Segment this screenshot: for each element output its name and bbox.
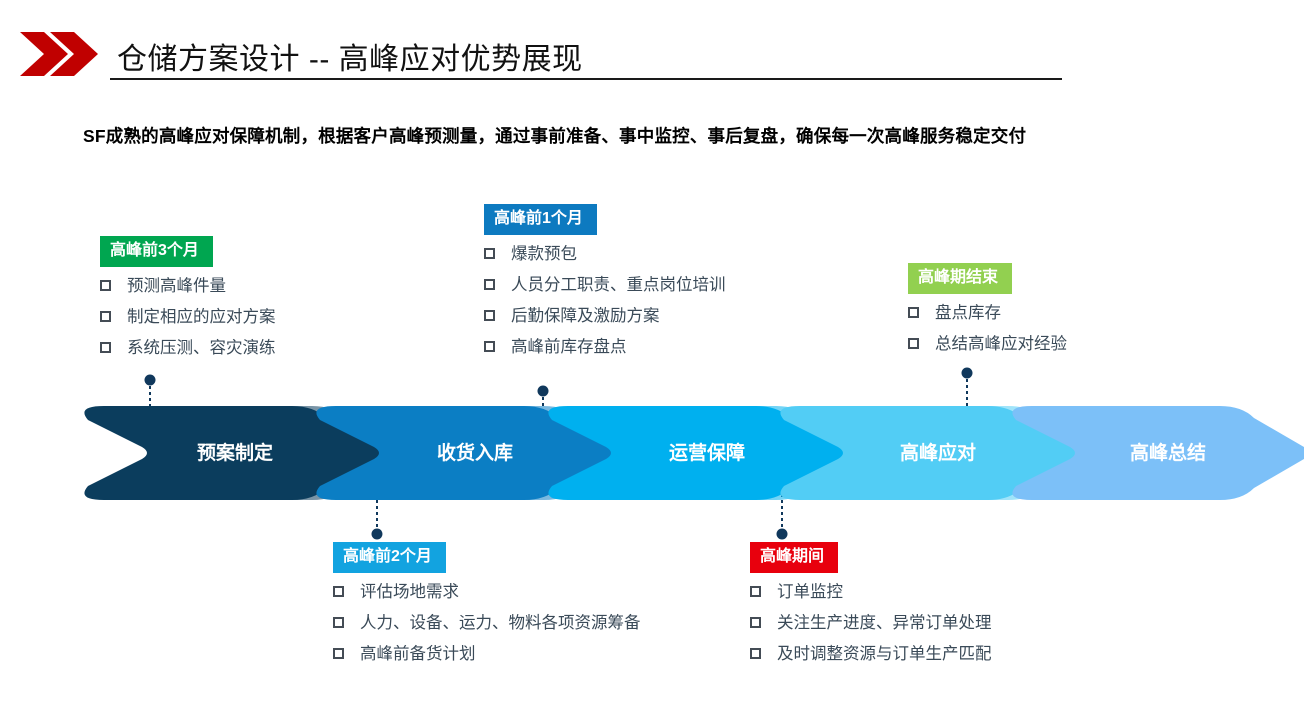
chevron-label-4: 高峰总结 [1098, 438, 1238, 465]
list-item-label: 系统压测、容灾演练 [127, 338, 276, 358]
subtitle-text: SF成熟的高峰应对保障机制，根据客户高峰预测量，通过事前准备、事中监控、事后复盘… [83, 122, 1248, 151]
list-item: 爆款预包 [484, 244, 726, 264]
list-item-label: 盘点库存 [935, 303, 1001, 323]
title-underline [110, 78, 1062, 80]
chevron-label-3: 高峰应对 [868, 438, 1008, 465]
badge-peak-period: 高峰期间 [750, 542, 838, 573]
page-title: 仓储方案设计 -- 高峰应对优势展现 [117, 34, 583, 78]
list-item-label: 人员分工职责、重点岗位培训 [511, 275, 726, 295]
checkbox-icon [100, 280, 111, 291]
badge-peak-period-end: 高峰期结束 [908, 263, 1012, 294]
list-item-label: 爆款预包 [511, 244, 577, 264]
list-item: 评估场地需求 [333, 582, 641, 602]
list-item-label: 评估场地需求 [360, 582, 459, 602]
list-item: 高峰前备货计划 [333, 644, 641, 664]
checkbox-icon [908, 338, 919, 349]
item-list: 爆款预包 人员分工职责、重点岗位培训 后勤保障及激励方案 高峰前库存盘点 [484, 244, 726, 357]
list-item: 及时调整资源与订单生产匹配 [750, 644, 992, 664]
list-item: 订单监控 [750, 582, 992, 602]
item-list: 盘点库存 总结高峰应对经验 [908, 303, 1067, 354]
item-list: 评估场地需求 人力、设备、运力、物料各项资源筹备 高峰前备货计划 [333, 582, 641, 664]
badge-peak-3-months-before: 高峰前3个月 [100, 236, 213, 267]
list-item: 系统压测、容灾演练 [100, 338, 276, 358]
list-item-label: 及时调整资源与订单生产匹配 [777, 644, 992, 664]
list-item: 高峰前库存盘点 [484, 337, 726, 357]
checkbox-icon [100, 342, 111, 353]
checkbox-icon [750, 586, 761, 597]
list-item: 预测高峰件量 [100, 276, 276, 296]
checkbox-icon [100, 311, 111, 322]
checkbox-icon [750, 648, 761, 659]
list-item-label: 预测高峰件量 [127, 276, 226, 296]
list-item: 人员分工职责、重点岗位培训 [484, 275, 726, 295]
process-arrow-band: 预案制定 收货入库 运营保障 高峰应对 高峰总结 [0, 398, 1304, 508]
checkbox-icon [333, 586, 344, 597]
chevron-label-1: 收货入库 [405, 438, 545, 465]
block-peak-period-end: 高峰期结束 盘点库存 总结高峰应对经验 [908, 263, 1067, 365]
chevron-label-0: 预案制定 [165, 438, 305, 465]
list-item-label: 制定相应的应对方案 [127, 307, 276, 327]
checkbox-icon [484, 279, 495, 290]
list-item: 制定相应的应对方案 [100, 307, 276, 327]
checkbox-icon [333, 648, 344, 659]
checkbox-icon [333, 617, 344, 628]
chevron-label-2: 运营保障 [637, 438, 777, 465]
checkbox-icon [908, 307, 919, 318]
page-header: 仓储方案设计 -- 高峰应对优势展现 [0, 0, 1304, 100]
checkbox-icon [484, 248, 495, 259]
checkbox-icon [750, 617, 761, 628]
list-item-label: 关注生产进度、异常订单处理 [777, 613, 992, 633]
list-item: 人力、设备、运力、物料各项资源筹备 [333, 613, 641, 633]
list-item-label: 订单监控 [777, 582, 843, 602]
list-item-label: 后勤保障及激励方案 [511, 306, 660, 326]
block-peak-2-months-before: 高峰前2个月 评估场地需求 人力、设备、运力、物料各项资源筹备 高峰前备货计划 [333, 542, 641, 675]
list-item-label: 高峰前备货计划 [360, 644, 476, 664]
checkbox-icon [484, 310, 495, 321]
block-peak-1-month-before: 高峰前1个月 爆款预包 人员分工职责、重点岗位培训 后勤保障及激励方案 高峰前库… [484, 204, 726, 368]
block-peak-period: 高峰期间 订单监控 关注生产进度、异常订单处理 及时调整资源与订单生产匹配 [750, 542, 992, 675]
list-item: 后勤保障及激励方案 [484, 306, 726, 326]
list-item: 关注生产进度、异常订单处理 [750, 613, 992, 633]
list-item-label: 总结高峰应对经验 [935, 334, 1067, 354]
list-item: 盘点库存 [908, 303, 1067, 323]
double-chevron-right-icon [18, 30, 98, 78]
list-item: 总结高峰应对经验 [908, 334, 1067, 354]
item-list: 订单监控 关注生产进度、异常订单处理 及时调整资源与订单生产匹配 [750, 582, 992, 664]
list-item-label: 高峰前库存盘点 [511, 337, 627, 357]
badge-peak-1-month-before: 高峰前1个月 [484, 204, 597, 235]
checkbox-icon [484, 341, 495, 352]
item-list: 预测高峰件量 制定相应的应对方案 系统压测、容灾演练 [100, 276, 276, 358]
list-item-label: 人力、设备、运力、物料各项资源筹备 [360, 613, 641, 633]
badge-peak-2-months-before: 高峰前2个月 [333, 542, 446, 573]
block-peak-3-months-before: 高峰前3个月 预测高峰件量 制定相应的应对方案 系统压测、容灾演练 [100, 236, 276, 369]
